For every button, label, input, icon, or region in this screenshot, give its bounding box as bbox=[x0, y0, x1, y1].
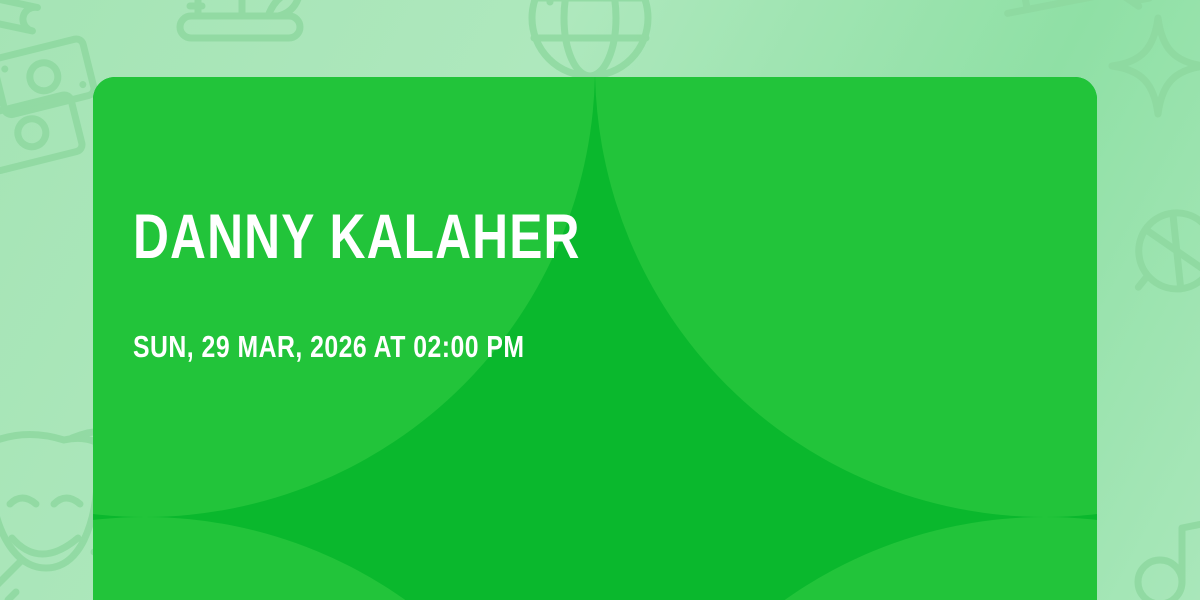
microphone-icon bbox=[1130, 203, 1200, 293]
event-title: DANNY KALAHER bbox=[133, 204, 844, 270]
projector-icon bbox=[180, 0, 300, 38]
ticket-icon bbox=[0, 0, 37, 31]
confetti-icon bbox=[0, 560, 22, 600]
music-note-icon bbox=[1138, 520, 1200, 600]
event-card[interactable]: DANNY KALAHER SUN, 29 MAR, 2026 AT 02:00… bbox=[93, 77, 1097, 600]
signpost-icon bbox=[999, 0, 1150, 31]
event-text-block: DANNY KALAHER SUN, 29 MAR, 2026 AT 02:00… bbox=[133, 204, 1033, 364]
event-datetime: SUN, 29 MAR, 2026 AT 02:00 PM bbox=[133, 330, 853, 364]
globe-icon bbox=[532, 0, 648, 76]
event-banner: DANNY KALAHER SUN, 29 MAR, 2026 AT 02:00… bbox=[0, 0, 1200, 600]
sparkle-icon bbox=[1112, 18, 1200, 114]
